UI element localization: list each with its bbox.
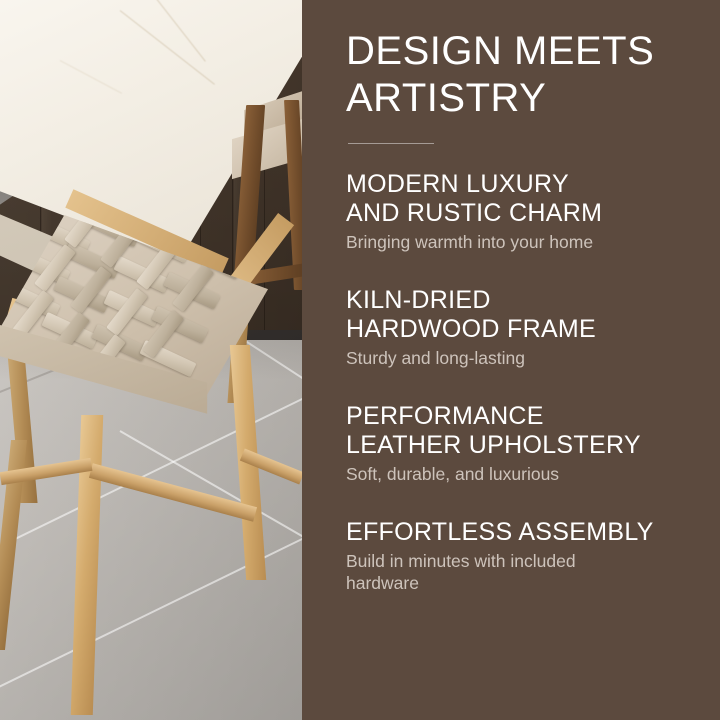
product-feature-graphic: DESIGN MEETS ARTISTRY MODERN LUXURY AND … — [0, 0, 720, 720]
woven-leather-stool — [0, 215, 302, 720]
product-photo — [0, 0, 302, 720]
feature-title: MODERN LUXURY AND RUSTIC CHARM — [346, 170, 696, 228]
feature-title: EFFORTLESS ASSEMBLY — [346, 518, 696, 547]
feature-subtitle: Sturdy and long-lasting — [346, 347, 696, 369]
feature-title: PERFORMANCE LEATHER UPHOLSTERY — [346, 402, 696, 460]
stool-stretcher — [89, 463, 257, 521]
title-divider — [348, 143, 434, 144]
feature-subtitle: Build in minutes with included hardware — [346, 550, 696, 594]
feature-subtitle: Soft, durable, and luxurious — [346, 463, 696, 485]
feature-title: KILN-DRIED HARDWOOD FRAME — [346, 286, 696, 344]
feature-item-performance-leather: PERFORMANCE LEATHER UPHOLSTERY Soft, dur… — [346, 402, 696, 485]
feature-subtitle: Bringing warmth into your home — [346, 231, 696, 253]
feature-item-modern-luxury: MODERN LUXURY AND RUSTIC CHARM Bringing … — [346, 170, 696, 253]
feature-item-effortless-assembly: EFFORTLESS ASSEMBLY Build in minutes wit… — [346, 518, 696, 594]
feature-item-kiln-dried: KILN-DRIED HARDWOOD FRAME Sturdy and lon… — [346, 286, 696, 369]
feature-list: MODERN LUXURY AND RUSTIC CHARM Bringing … — [346, 170, 696, 594]
page-title: DESIGN MEETS ARTISTRY — [346, 28, 696, 122]
content-panel: DESIGN MEETS ARTISTRY MODERN LUXURY AND … — [302, 0, 720, 720]
